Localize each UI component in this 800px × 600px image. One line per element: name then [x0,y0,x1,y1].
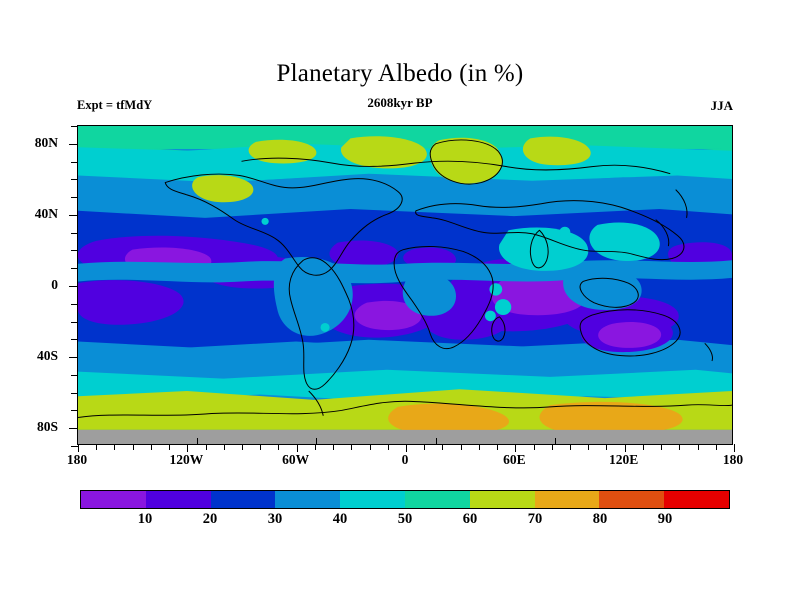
x-axis-major-tick [625,444,626,452]
y-axis-major-tick [69,286,78,287]
y-axis-major-tick [69,215,78,216]
y-axis-minor-tick [71,268,78,269]
y-axis-minor-tick [71,162,78,163]
x-axis-minor-tick [497,444,498,450]
colorbar-band[interactable] [470,491,535,508]
colorbar-band[interactable] [340,491,405,508]
y-axis-minor-tick [71,446,78,447]
page-title: Planetary Albedo (in %) [0,60,800,88]
albedo-map-plot [77,125,733,445]
colorbar-band[interactable] [81,491,146,508]
colorbar-tick-label: 70 [528,511,543,528]
x-axis-minor-tick [643,444,644,450]
x-axis-minor-tick [316,438,317,444]
colorbar-tick-label: 90 [658,511,673,528]
x-axis-minor-tick [479,444,480,450]
x-axis-minor-tick [351,444,352,450]
x-axis-label: 60W [282,452,309,468]
y-axis-minor-tick [71,304,78,305]
y-axis-minor-tick [71,197,78,198]
x-axis-minor-tick [315,444,316,450]
x-axis-minor-tick [278,444,279,450]
x-axis-minor-tick [716,444,717,450]
x-axis-label: 60E [503,452,526,468]
x-axis-major-tick [515,444,516,452]
x-axis-minor-tick [679,444,680,450]
colorbar-band[interactable] [535,491,600,508]
x-axis-minor-tick [197,438,198,444]
y-axis-label: 40N [35,206,58,222]
y-axis-minor-tick [71,250,78,251]
y-axis-major-tick [69,144,78,145]
y-axis-major-tick [69,428,78,429]
x-axis-label: 120E [609,452,638,468]
x-axis-minor-tick [242,444,243,450]
colorbar-tick-label: 30 [268,511,283,528]
x-axis-label: 0 [402,452,409,468]
x-axis-minor-tick [436,438,437,444]
x-axis-minor-tick [206,444,207,450]
colorbar-band[interactable] [599,491,664,508]
x-axis-minor-tick [114,444,115,450]
x-axis-minor-tick [224,444,225,450]
y-axis-minor-tick [71,410,78,411]
y-axis-minor-tick [71,233,78,234]
x-axis-minor-tick [555,438,556,444]
x-axis-minor-tick [96,444,97,450]
colorbar-tick-label: 50 [398,511,413,528]
experiment-label: Expt = tfMdY [77,98,152,113]
x-axis-minor-tick [570,444,571,450]
season-label: JJA [711,98,733,114]
x-axis-major-tick [297,444,298,452]
colorbar-tick-label: 10 [138,511,153,528]
colorbar-tick-label: 60 [463,511,478,528]
x-axis-label: 180 [67,452,87,468]
y-axis-label: 80S [37,419,58,435]
x-axis-minor-tick [169,444,170,450]
x-axis-minor-tick [442,444,443,450]
x-axis-major-tick [734,444,735,452]
x-axis-minor-tick [588,444,589,450]
x-axis-minor-tick [260,444,261,450]
y-axis-minor-tick [71,179,78,180]
colorbar-band[interactable] [146,491,211,508]
x-axis-minor-tick [370,444,371,450]
x-axis-minor-tick [388,444,389,450]
x-axis-minor-tick [461,444,462,450]
x-axis-minor-tick [698,444,699,450]
x-axis-minor-tick [333,444,334,450]
y-axis-minor-tick [71,126,78,127]
x-axis-minor-tick [151,444,152,450]
colorbar-band[interactable] [275,491,340,508]
x-axis-minor-tick [424,444,425,450]
x-axis-minor-tick [606,444,607,450]
x-axis-minor-tick [552,444,553,450]
y-axis-minor-tick [71,375,78,376]
colorbar-tick-label: 80 [593,511,608,528]
colorbar-tick-label: 40 [333,511,348,528]
y-axis-minor-tick [71,322,78,323]
y-axis-major-tick [69,357,78,358]
y-axis-label: 40S [37,348,58,364]
x-axis-major-tick [187,444,188,452]
x-axis-minor-tick [133,444,134,450]
colorbar-tick-label: 20 [203,511,218,528]
x-axis-major-tick [78,444,79,452]
colorbar-band[interactable] [664,491,729,508]
colorbar[interactable] [80,490,730,509]
x-axis-label: 180 [723,452,743,468]
y-axis-minor-tick [71,393,78,394]
x-axis-major-tick [406,444,407,452]
colorbar-band[interactable] [211,491,276,508]
albedo-contour-map [78,126,732,444]
x-axis-minor-tick [661,444,662,450]
x-axis-minor-tick [534,444,535,450]
colorbar-band[interactable] [405,491,470,508]
y-axis-label: 0 [51,277,58,293]
x-axis-label: 120W [169,452,203,468]
y-axis-minor-tick [71,339,78,340]
y-axis-label: 80N [35,135,58,151]
